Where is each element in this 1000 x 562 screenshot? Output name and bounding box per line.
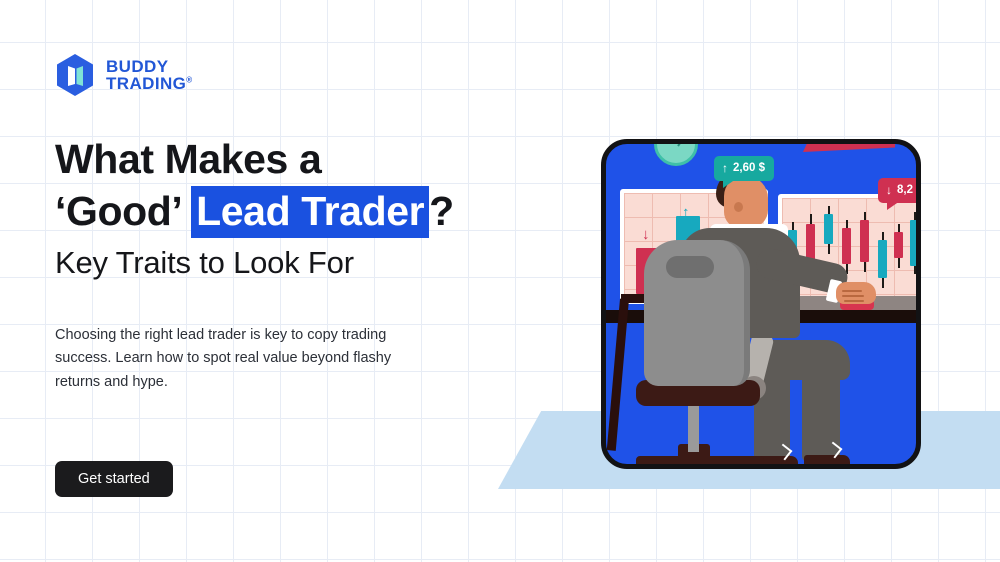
headline-line-1: What Makes a [55, 136, 321, 182]
candle-7 [894, 198, 903, 304]
headline-question-mark: ? [429, 188, 454, 234]
finger-line-2 [842, 295, 864, 297]
candle-8 [910, 198, 919, 304]
candle-body [842, 228, 851, 264]
partial-red-badge-decor [803, 139, 895, 152]
chair-pole [688, 404, 699, 452]
price-down-value: 8,2 [897, 184, 913, 196]
price-up-value: 2,60 $ [733, 162, 765, 174]
headline-quoted-word: ‘Good’ [55, 188, 191, 234]
trademark-symbol: ® [186, 75, 192, 84]
page-title: What Makes a ‘Good’ Lead Trader? [55, 134, 525, 237]
person-ear [734, 202, 743, 212]
candle-body [824, 214, 833, 244]
arrow-down-icon: ↓ [886, 183, 892, 197]
brand-logo[interactable]: BUDDY TRADING® [55, 53, 193, 97]
price-up-badge: ↑ 2,60 $ [714, 156, 774, 181]
candle-body [878, 240, 887, 278]
candle-body [860, 220, 869, 262]
candle-body [894, 232, 903, 258]
hero-illustration-card: ↓ ↑ ↑ [601, 139, 921, 469]
finger-line-3 [844, 300, 864, 302]
arrow-up-icon: ↑ [722, 161, 728, 175]
chair-headrest-pad [666, 256, 714, 278]
page-subtitle: Key Traits to Look For [55, 245, 525, 281]
clock-icon [654, 139, 698, 166]
candle-6 [878, 198, 887, 304]
brand-line-2: TRADING® [106, 75, 193, 92]
candle-body [910, 220, 919, 266]
headline-highlight: Lead Trader [191, 186, 429, 238]
brand-line-1: BUDDY [106, 58, 193, 75]
bar-arrow-down-icon: ↓ [642, 227, 650, 242]
person-shoe-right [804, 455, 850, 468]
finger-line-1 [842, 290, 862, 292]
hero-description: Choosing the right lead trader is key to… [55, 324, 430, 394]
get-started-button[interactable]: Get started [55, 461, 173, 497]
hexagon-book-logo-icon [55, 53, 95, 97]
brand-wordmark: BUDDY TRADING® [106, 58, 193, 93]
price-down-badge: ↓ 8,2 [878, 178, 921, 203]
